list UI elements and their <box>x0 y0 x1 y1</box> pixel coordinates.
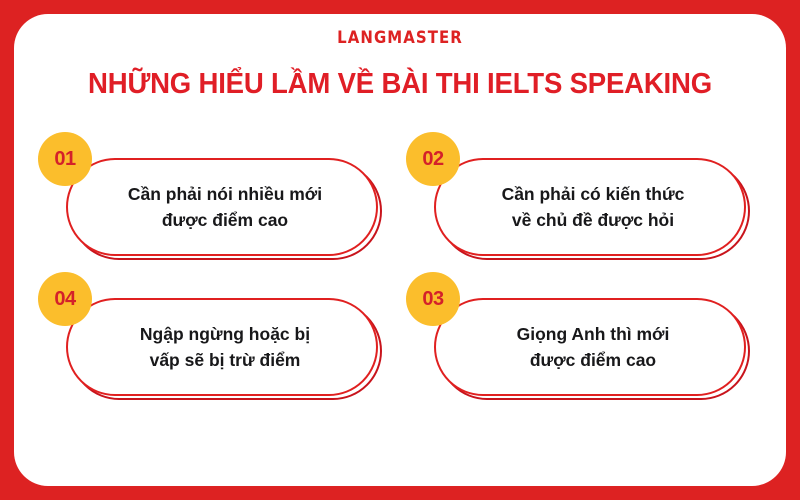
poster-canvas: LANGMASTER NHỮNG HIỂU LẦM VỀ BÀI THI IEL… <box>0 0 800 500</box>
corner-ornament-bottom-left <box>14 452 48 486</box>
card-number-badge: 04 <box>38 272 92 326</box>
corner-ornament-top-right <box>752 14 786 48</box>
corner-ornament-top-left <box>14 14 48 48</box>
myth-card-02: Cần phải có kiến thức về chủ đề được hỏi… <box>434 158 746 256</box>
myth-card-01: Cần phải nói nhiều mới được điểm cao 01 <box>66 158 378 256</box>
card-number-badge: 02 <box>406 132 460 186</box>
card-number-label: 04 <box>54 288 75 311</box>
card-number-badge: 03 <box>406 272 460 326</box>
card-body: Cần phải có kiến thức về chủ đề được hỏi <box>434 158 746 256</box>
card-text-line-1: Cần phải nói nhiều mới <box>128 181 322 207</box>
card-text-line-2: được điểm cao <box>517 347 670 373</box>
card-text-line-2: vấp sẽ bị trừ điểm <box>140 347 310 373</box>
card-number-label: 03 <box>422 288 443 311</box>
card-text: Ngập ngừng hoặc bị vấp sẽ bị trừ điểm <box>140 321 310 374</box>
card-text: Cần phải nói nhiều mới được điểm cao <box>128 181 322 234</box>
card-body: Ngập ngừng hoặc bị vấp sẽ bị trừ điểm <box>66 298 378 396</box>
card-text-line-2: về chủ đề được hỏi <box>502 207 685 233</box>
card-text-line-1: Giọng Anh thì mới <box>517 321 670 347</box>
card-number-badge: 01 <box>38 132 92 186</box>
card-text-line-1: Cần phải có kiến thức <box>502 181 685 207</box>
page-title: NHỮNG HIỂU LẦM VỀ BÀI THI IELTS SPEAKING <box>20 68 780 101</box>
card-text: Cần phải có kiến thức về chủ đề được hỏi <box>502 181 685 234</box>
card-text-line-2: được điểm cao <box>128 207 322 233</box>
myth-cards-grid: Cần phải nói nhiều mới được điểm cao 01 … <box>40 150 760 410</box>
brand-logo: LANGMASTER <box>48 28 752 48</box>
card-body: Cần phải nói nhiều mới được điểm cao <box>66 158 378 256</box>
card-number-label: 01 <box>54 148 75 171</box>
myth-card-04: Ngập ngừng hoặc bị vấp sẽ bị trừ điểm 04 <box>66 298 378 396</box>
card-number-label: 02 <box>422 148 443 171</box>
card-text-line-1: Ngập ngừng hoặc bị <box>140 321 310 347</box>
myth-card-03: Giọng Anh thì mới được điểm cao 03 <box>434 298 746 396</box>
card-body: Giọng Anh thì mới được điểm cao <box>434 298 746 396</box>
card-text: Giọng Anh thì mới được điểm cao <box>517 321 670 374</box>
corner-ornament-bottom-right <box>752 452 786 486</box>
